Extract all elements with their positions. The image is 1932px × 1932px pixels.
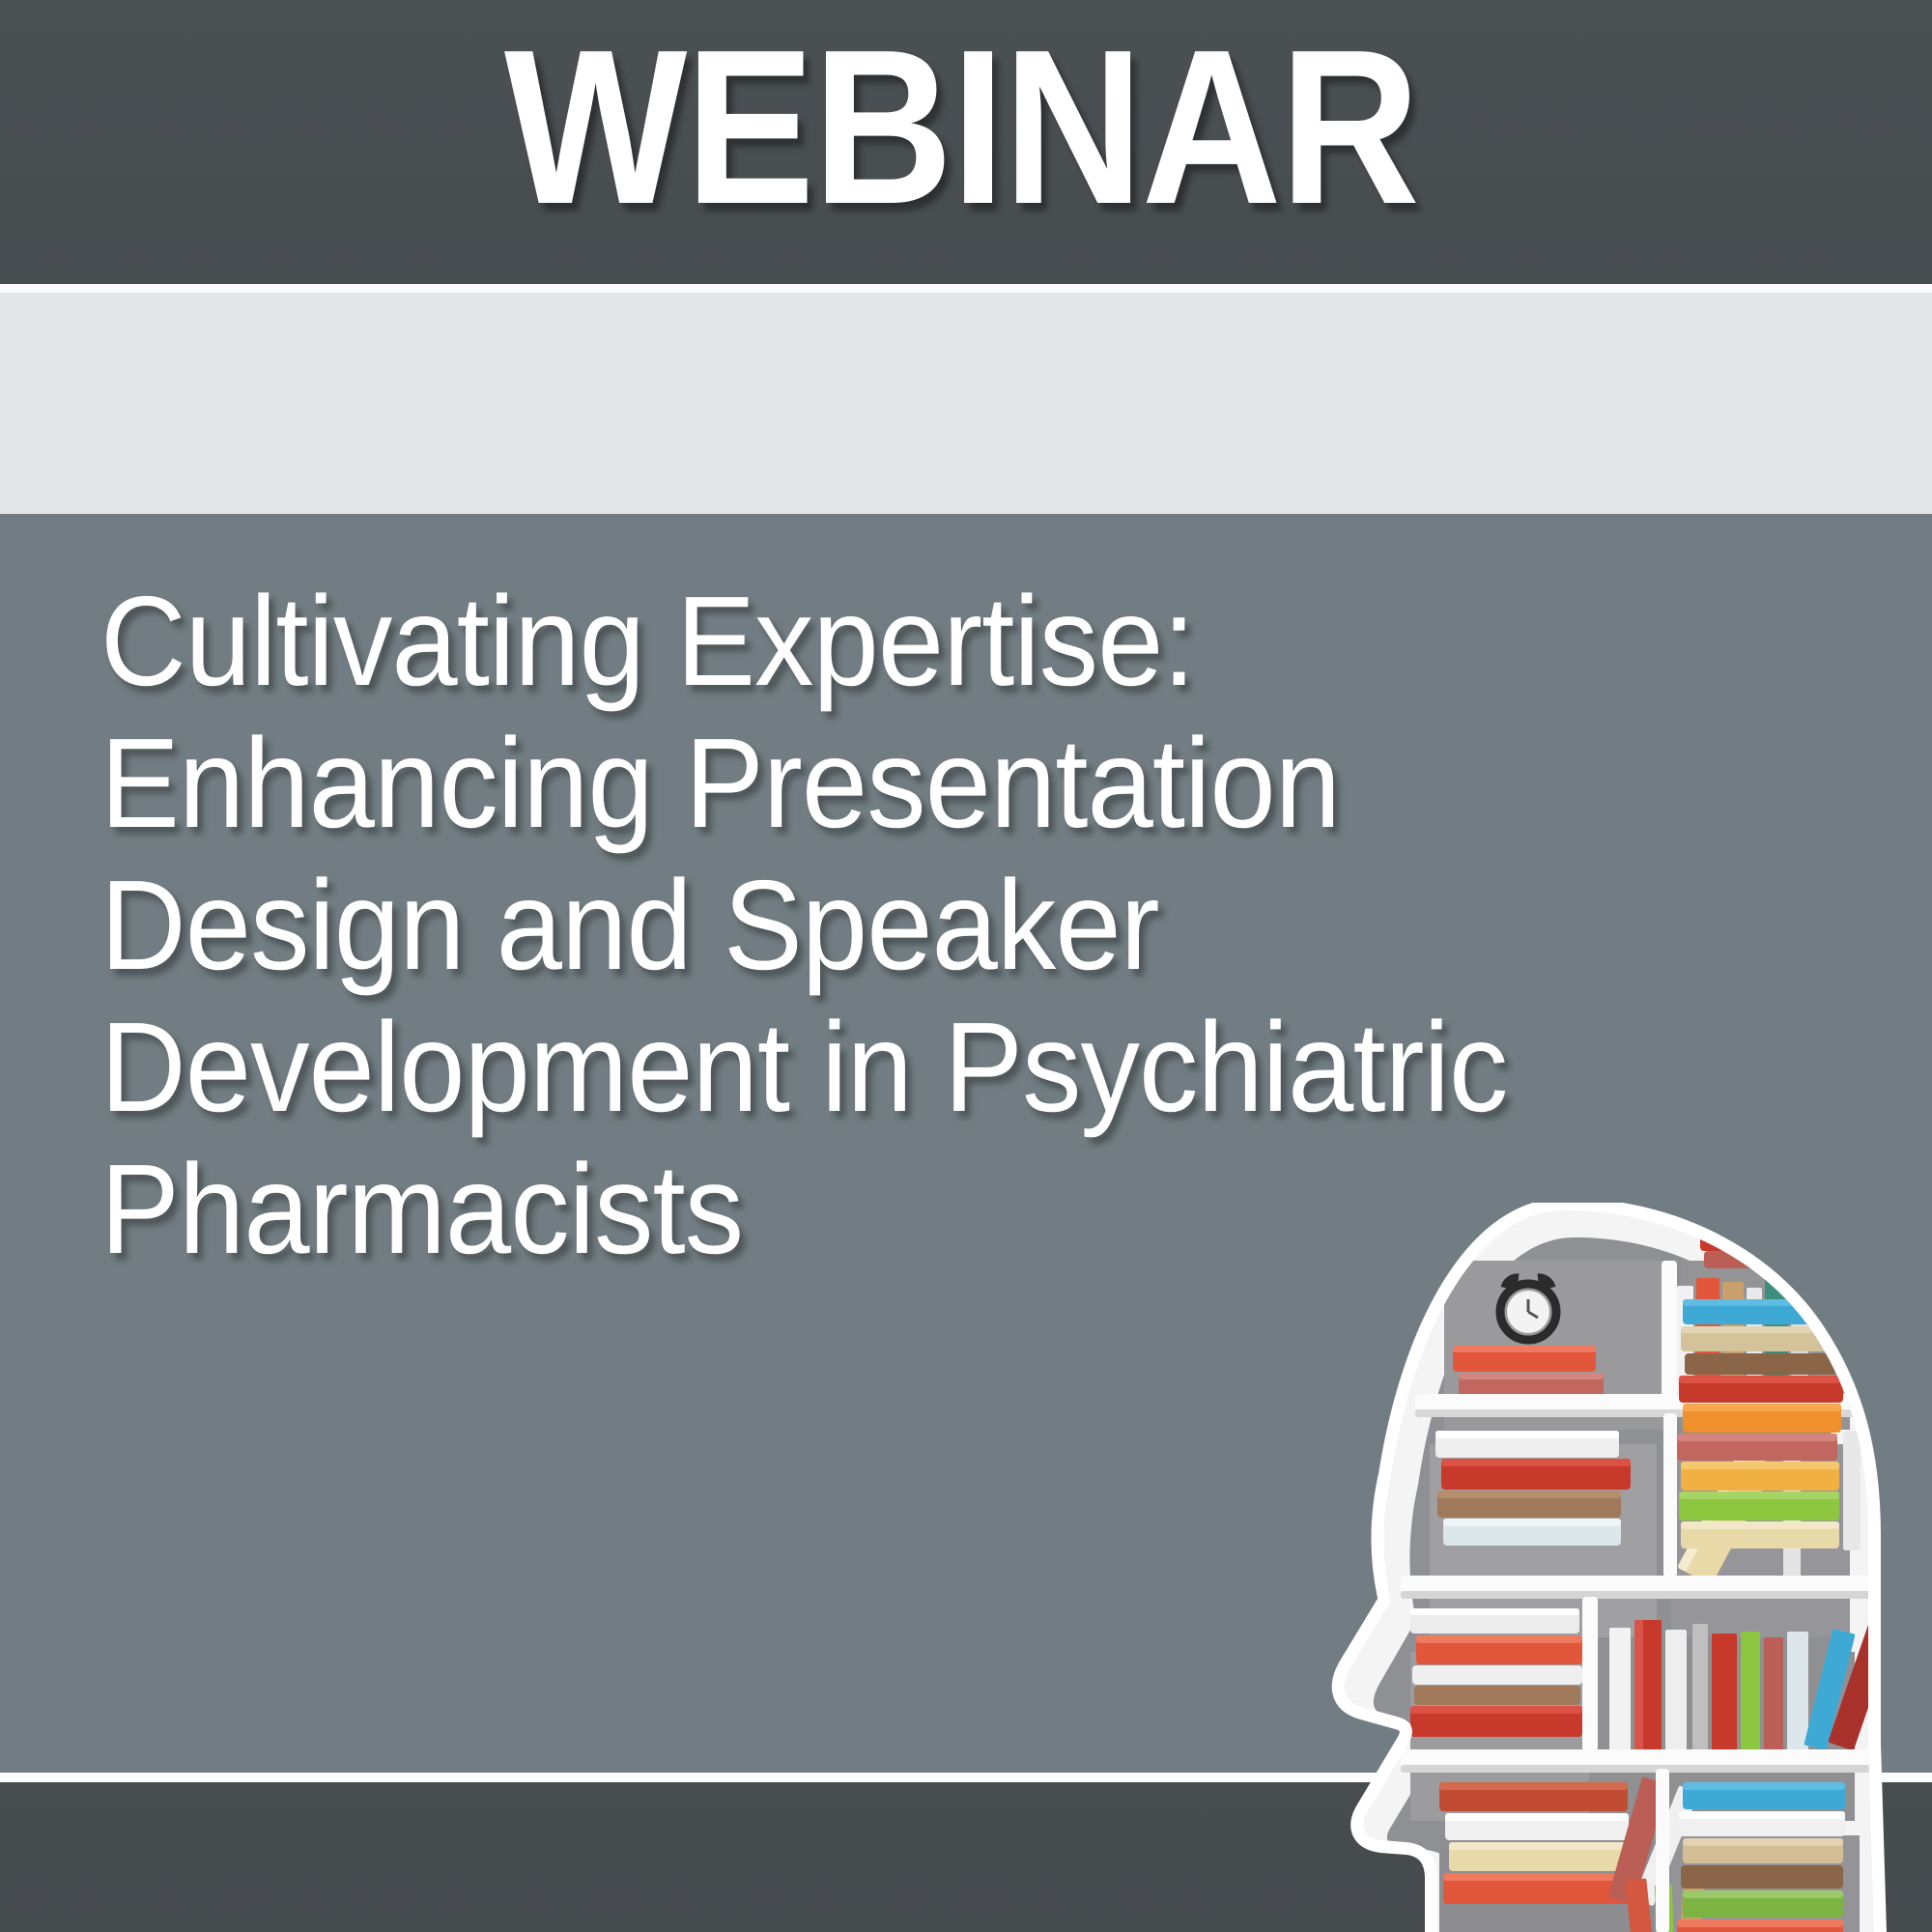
title-block: Cultivating Expertise: Enhancing Present… (100, 570, 1839, 1280)
webinar-title-slide: WEBINAR Cultivating Expertise: Enhancing… (0, 0, 1932, 1932)
title-line: Enhancing Presentation (100, 712, 1718, 854)
title-line: Cultivating Expertise: (100, 570, 1718, 712)
page-title: WEBINAR (115, 17, 1806, 238)
header-divider (0, 284, 1932, 293)
title-line: Design and Speaker (100, 854, 1718, 996)
title-line: Development in Psychiatric (100, 996, 1718, 1138)
header-band: WEBINAR (0, 0, 1932, 284)
head-bookshelf-icon (1246, 1203, 1932, 1932)
subtitle-band (0, 293, 1932, 514)
